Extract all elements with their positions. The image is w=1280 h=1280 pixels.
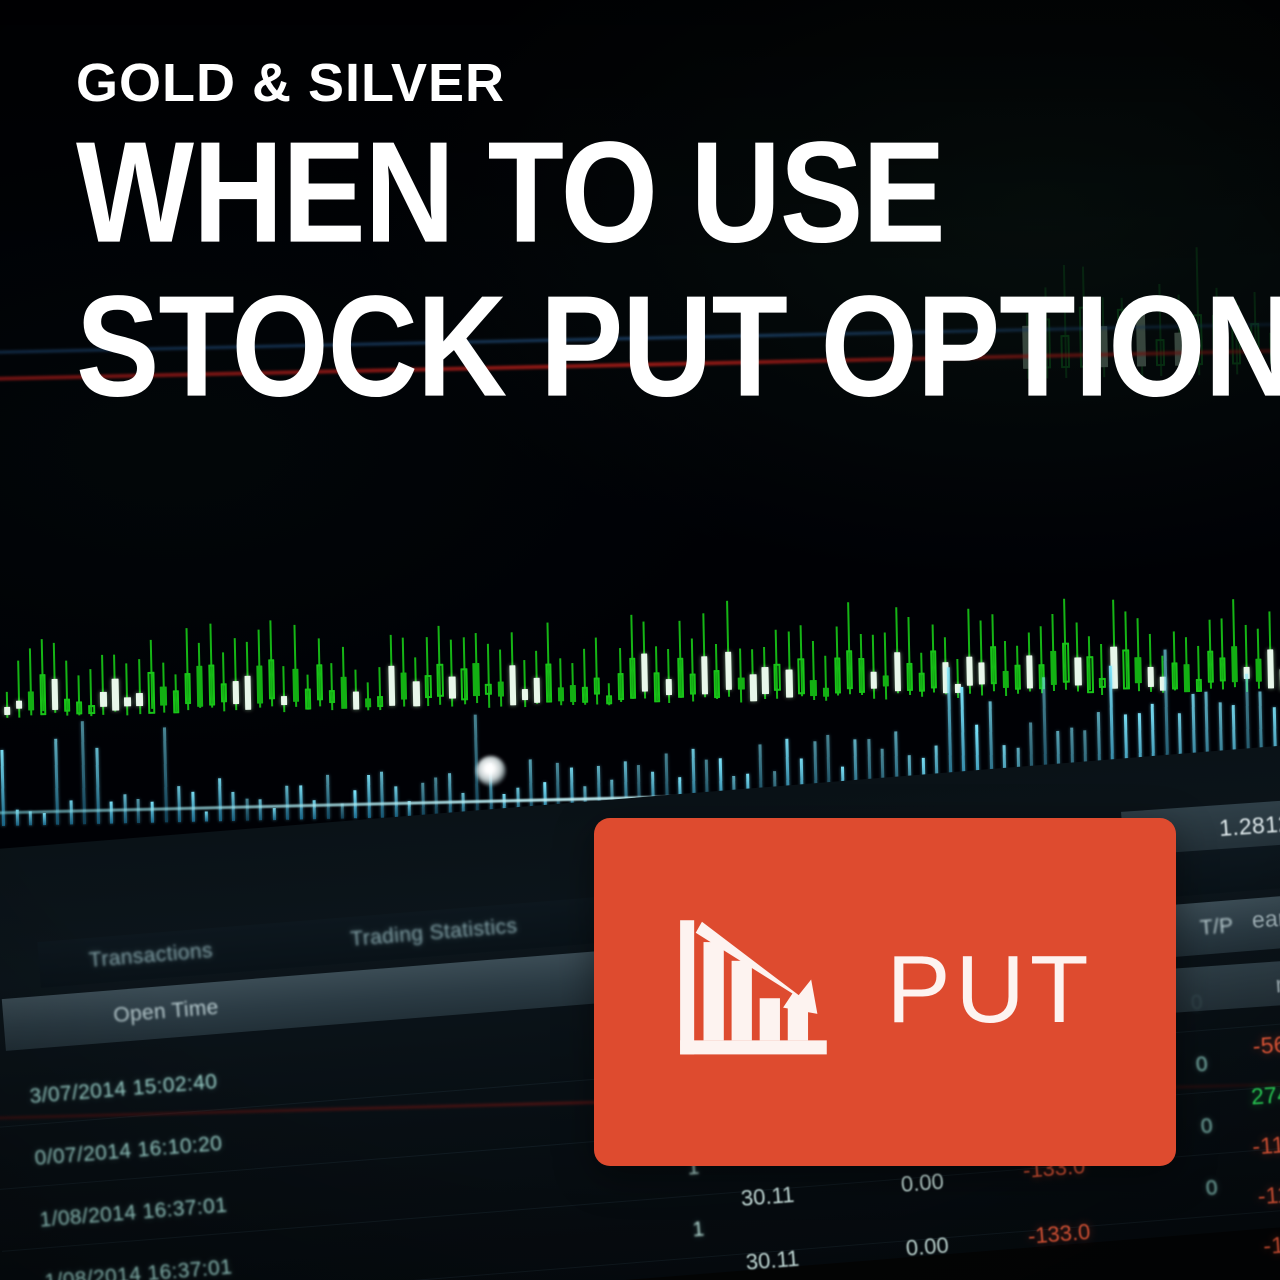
cell-open-time: 3/07/2014 15:02:40 <box>29 1070 219 1109</box>
headline-line-2: STOCK PUT OPTIONS <box>76 277 1280 418</box>
cell-mid-value: 30.11 <box>745 1246 800 1276</box>
put-label: PUT <box>887 942 1094 1038</box>
headline-line-1: WHEN TO USE <box>76 123 1280 264</box>
cell-open-price: 1 <box>692 1217 706 1242</box>
sidebar-label-profit: rofit <box>1275 969 1280 999</box>
cell-zero-value: 0.00 <box>905 1233 950 1262</box>
put-badge[interactable]: PUT <box>594 818 1176 1166</box>
poster-root: 6:00 7:00 8:00 11:00 12:00 Transactions … <box>0 0 1280 1280</box>
sidebar-label-research: earch <box>1251 903 1280 934</box>
mid-value-column-b: 0.00 0.00 <box>900 1169 950 1262</box>
sidebar-value: -56.70 <box>1252 1029 1280 1061</box>
cell-open-time: 0/07/2014 16:10:20 <box>34 1131 224 1170</box>
sidebar-quote: 1.28126 <box>1218 809 1280 842</box>
cell-mid-value: 30.11 <box>740 1182 795 1212</box>
sidebar-value: -118.33 <box>1251 1128 1280 1160</box>
sidebar-value: -118.33 <box>1257 1178 1280 1210</box>
bokeh-highlight <box>476 756 506 786</box>
declining-bar-chart-arrow-icon <box>677 917 833 1067</box>
cell-negative-value: -133.0 <box>1027 1219 1091 1250</box>
column-open-time: Open Time <box>113 996 220 1028</box>
kicker-text: GOLD & SILVER <box>76 56 1220 110</box>
tab-trading-statistics[interactable]: Trading Statistics <box>349 915 518 952</box>
cell-open-time: 1/08/2014 16:37:01 <box>44 1255 234 1280</box>
cell-zero-value: 0.00 <box>900 1169 945 1198</box>
tab-transactions[interactable]: Transactions <box>88 939 214 973</box>
sidebar-value: -118.33 <box>1262 1228 1280 1260</box>
mid-value-column-a: 30.11 30.11 <box>740 1182 800 1276</box>
cell-open-time: 1/08/2014 16:37:01 <box>39 1193 229 1232</box>
mid-value-column-c: -133.0 -133.0 <box>1022 1153 1091 1250</box>
headline-block: GOLD & SILVER WHEN TO USE STOCK PUT OPTI… <box>0 0 1280 405</box>
